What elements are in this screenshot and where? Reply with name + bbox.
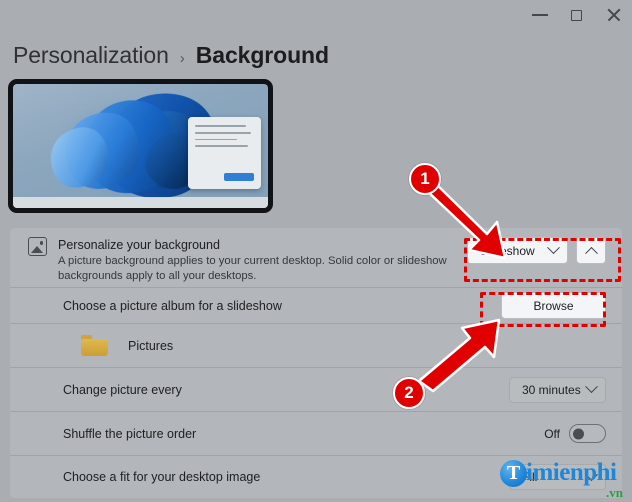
folder-line: Pictures	[24, 335, 173, 356]
maximize-icon	[571, 10, 582, 21]
wallpaper-image	[13, 84, 268, 208]
toggle-knob	[573, 428, 584, 439]
dialog-text-line	[195, 145, 248, 147]
interval-value: 30 minutes	[522, 383, 581, 397]
browse-button[interactable]: Browse	[501, 292, 606, 319]
row-text-block: Personalize your background A picture ba…	[58, 237, 467, 284]
background-type-value: Slideshow	[480, 244, 535, 258]
breadcrumb: Personalization › Background	[13, 42, 329, 69]
minimize-icon	[532, 14, 548, 16]
shuffle-controls: Off	[544, 424, 606, 443]
shuffle-state-label: Off	[544, 427, 560, 441]
chevron-down-icon	[585, 380, 598, 393]
chevron-down-icon	[547, 241, 560, 254]
taskbar-strip	[13, 197, 268, 208]
shuffle-toggle[interactable]	[569, 424, 606, 443]
fit-label: Choose a fit for your desktop image	[24, 470, 260, 484]
minimize-button[interactable]	[521, 0, 558, 30]
row-icon-slot	[24, 237, 58, 256]
maximize-button[interactable]	[558, 0, 595, 30]
watermark-tld: .vn	[606, 485, 623, 501]
row-pictures-folder[interactable]: Pictures	[10, 324, 622, 368]
close-icon	[607, 8, 621, 22]
row-shuffle-order: Shuffle the picture order Off	[10, 412, 622, 456]
background-type-dropdown[interactable]: Slideshow	[467, 237, 568, 264]
chevron-up-icon	[585, 247, 598, 260]
dialog-text-line	[195, 132, 251, 134]
row-change-picture-every: Change picture every 30 minutes	[10, 368, 622, 412]
watermark-mark: T	[507, 463, 520, 483]
breadcrumb-chevron-icon: ›	[180, 50, 185, 67]
sample-dialog-preview	[188, 117, 261, 189]
album-controls: Browse	[501, 292, 606, 319]
personalize-controls: Slideshow	[467, 237, 606, 264]
dialog-accent-button	[224, 173, 254, 181]
dialog-text-line	[195, 139, 237, 141]
folder-icon	[81, 335, 108, 356]
breadcrumb-parent-link[interactable]: Personalization	[13, 42, 169, 69]
watermark: T aimienphi .vn	[500, 459, 616, 487]
interval-label: Change picture every	[24, 383, 182, 397]
album-label: Choose a picture album for a slideshow	[24, 299, 282, 313]
title-bar	[0, 0, 632, 30]
watermark-name: aimienphi	[514, 459, 616, 487]
monitor-frame	[8, 79, 273, 213]
shuffle-label: Shuffle the picture order	[24, 427, 196, 441]
personalize-description: A picture background applies to your cur…	[58, 254, 467, 284]
expand-collapse-button[interactable]	[576, 237, 606, 264]
dialog-text-line	[195, 125, 246, 127]
interval-controls: 30 minutes	[509, 377, 606, 403]
background-preview	[8, 79, 273, 213]
settings-card: Personalize your background A picture ba…	[10, 228, 622, 498]
picture-icon	[28, 237, 47, 256]
watermark-logo-icon: T	[500, 460, 527, 487]
folder-name: Pictures	[128, 339, 173, 353]
step-badge-1: 1	[409, 163, 441, 195]
folder-body	[81, 339, 108, 356]
row-choose-album: Choose a picture album for a slideshow B…	[10, 288, 622, 324]
row-personalize-background: Personalize your background A picture ba…	[10, 228, 622, 288]
page-title: Background	[196, 42, 329, 69]
personalize-title: Personalize your background	[58, 237, 467, 253]
interval-dropdown[interactable]: 30 minutes	[509, 377, 606, 403]
close-button[interactable]	[595, 0, 632, 30]
settings-window: Personalization › Background	[0, 0, 632, 502]
